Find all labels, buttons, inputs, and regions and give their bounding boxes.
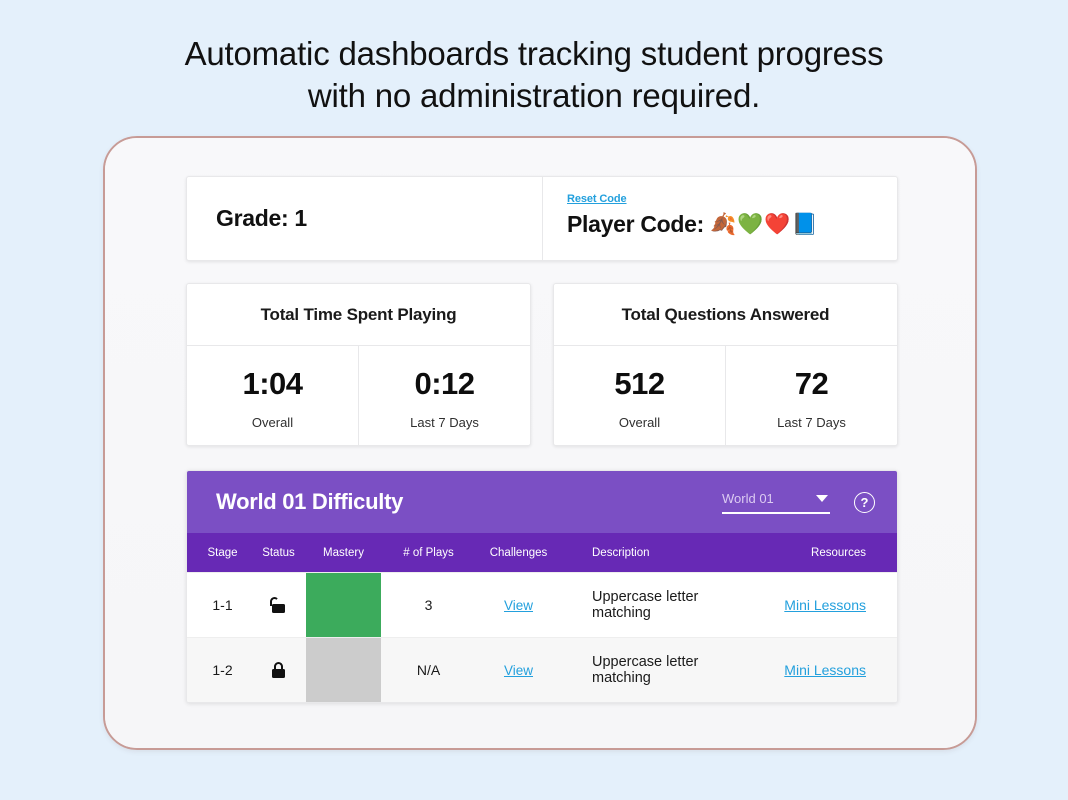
difficulty-table-header: World 01 Difficulty World 01 ? [187, 471, 897, 533]
stat-value: 0:12 [414, 366, 474, 402]
stat-value: 512 [614, 366, 664, 402]
cell-stage: 1-1 [194, 573, 251, 637]
table-row[interactable]: 1-2 N/A View [187, 637, 897, 702]
stats-row: Total Time Spent Playing 1:04 Overall 0:… [186, 283, 898, 446]
cell-plays: 3 [381, 573, 476, 637]
stat-overall: 1:04 Overall [187, 346, 358, 445]
player-code-panel: Reset Code Player Code: 🍂💚❤️📘 [543, 177, 897, 260]
headline-line-2: with no administration required. [0, 75, 1068, 117]
column-header-stage: Stage [194, 547, 251, 559]
view-challenges-link[interactable]: View [504, 598, 533, 613]
locked-padlock-icon [272, 662, 285, 678]
world-select-dropdown[interactable]: World 01 [722, 491, 830, 514]
stat-card-time-spent: Total Time Spent Playing 1:04 Overall 0:… [186, 283, 531, 446]
mastery-swatch [306, 573, 381, 637]
description-value: Uppercase letter matching [592, 654, 755, 686]
stat-card-questions-answered: Total Questions Answered 512 Overall 72 … [553, 283, 898, 446]
cell-status [251, 573, 306, 637]
stat-last-7-days: 0:12 Last 7 Days [358, 346, 530, 445]
plays-value: 3 [425, 597, 433, 613]
cell-description: Uppercase letter matching [561, 638, 755, 702]
stat-overall: 512 Overall [554, 346, 725, 445]
stat-card-title: Total Time Spent Playing [187, 284, 530, 346]
tablet-device-frame: Grade: 1 Reset Code Player Code: 🍂💚❤️📘 T… [103, 136, 977, 750]
difficulty-table-column-headers: Stage Status Mastery # of Plays Challeng… [187, 533, 897, 572]
grade-label: Grade: 1 [216, 205, 307, 232]
plays-value: N/A [417, 662, 440, 678]
stat-label: Overall [619, 415, 660, 430]
reset-code-link[interactable]: Reset Code [567, 193, 627, 205]
description-value: Uppercase letter matching [592, 589, 755, 621]
column-header-description: Description [561, 547, 755, 559]
column-header-challenges: Challenges [476, 547, 561, 559]
cell-mastery [306, 573, 381, 637]
cell-status [251, 638, 306, 702]
table-row[interactable]: 1-1 3 View [187, 572, 897, 637]
cell-description: Uppercase letter matching [561, 573, 755, 637]
column-header-resources: Resources [755, 547, 875, 559]
cell-resources: Mini Lessons [755, 638, 875, 702]
cell-mastery [306, 638, 381, 702]
view-challenges-link[interactable]: View [504, 663, 533, 678]
dashboard-container: Grade: 1 Reset Code Player Code: 🍂💚❤️📘 T… [186, 176, 898, 703]
cell-stage: 1-2 [194, 638, 251, 702]
cell-plays: N/A [381, 638, 476, 702]
stat-label: Last 7 Days [777, 415, 846, 430]
column-header-mastery: Mastery [306, 547, 381, 559]
grade-and-player-code-card: Grade: 1 Reset Code Player Code: 🍂💚❤️📘 [186, 176, 898, 261]
cell-challenges: View [476, 573, 561, 637]
column-header-status: Status [251, 547, 306, 559]
stage-value: 1-1 [212, 597, 232, 613]
difficulty-table-title: World 01 Difficulty [216, 489, 722, 515]
stat-value: 72 [795, 366, 828, 402]
unlocked-padlock-icon [272, 597, 285, 613]
difficulty-table-card: World 01 Difficulty World 01 ? Stage Sta… [186, 470, 898, 703]
mastery-swatch [306, 638, 381, 702]
cell-resources: Mini Lessons [755, 573, 875, 637]
stat-card-title: Total Questions Answered [554, 284, 897, 346]
tablet-screen: Grade: 1 Reset Code Player Code: 🍂💚❤️📘 T… [105, 138, 975, 748]
page-headline: Automatic dashboards tracking student pr… [0, 0, 1068, 117]
stat-last-7-days: 72 Last 7 Days [725, 346, 897, 445]
column-header-plays: # of Plays [381, 547, 476, 559]
help-icon[interactable]: ? [854, 492, 875, 513]
headline-line-1: Automatic dashboards tracking student pr… [0, 33, 1068, 75]
world-select-value: World 01 [722, 491, 774, 506]
stat-label: Overall [252, 415, 293, 430]
stage-value: 1-2 [212, 662, 232, 678]
stat-card-body: 1:04 Overall 0:12 Last 7 Days [187, 346, 530, 445]
player-code-glyphs: 🍂💚❤️📘 [710, 214, 819, 235]
player-code-line: Player Code: 🍂💚❤️📘 [567, 211, 897, 238]
grade-panel: Grade: 1 [187, 177, 543, 260]
stat-label: Last 7 Days [410, 415, 479, 430]
stat-value: 1:04 [242, 366, 302, 402]
player-code-label: Player Code: [567, 211, 704, 238]
mini-lessons-link[interactable]: Mini Lessons [784, 662, 866, 678]
stat-card-body: 512 Overall 72 Last 7 Days [554, 346, 897, 445]
chevron-down-icon [816, 495, 828, 502]
cell-challenges: View [476, 638, 561, 702]
mini-lessons-link[interactable]: Mini Lessons [784, 597, 866, 613]
